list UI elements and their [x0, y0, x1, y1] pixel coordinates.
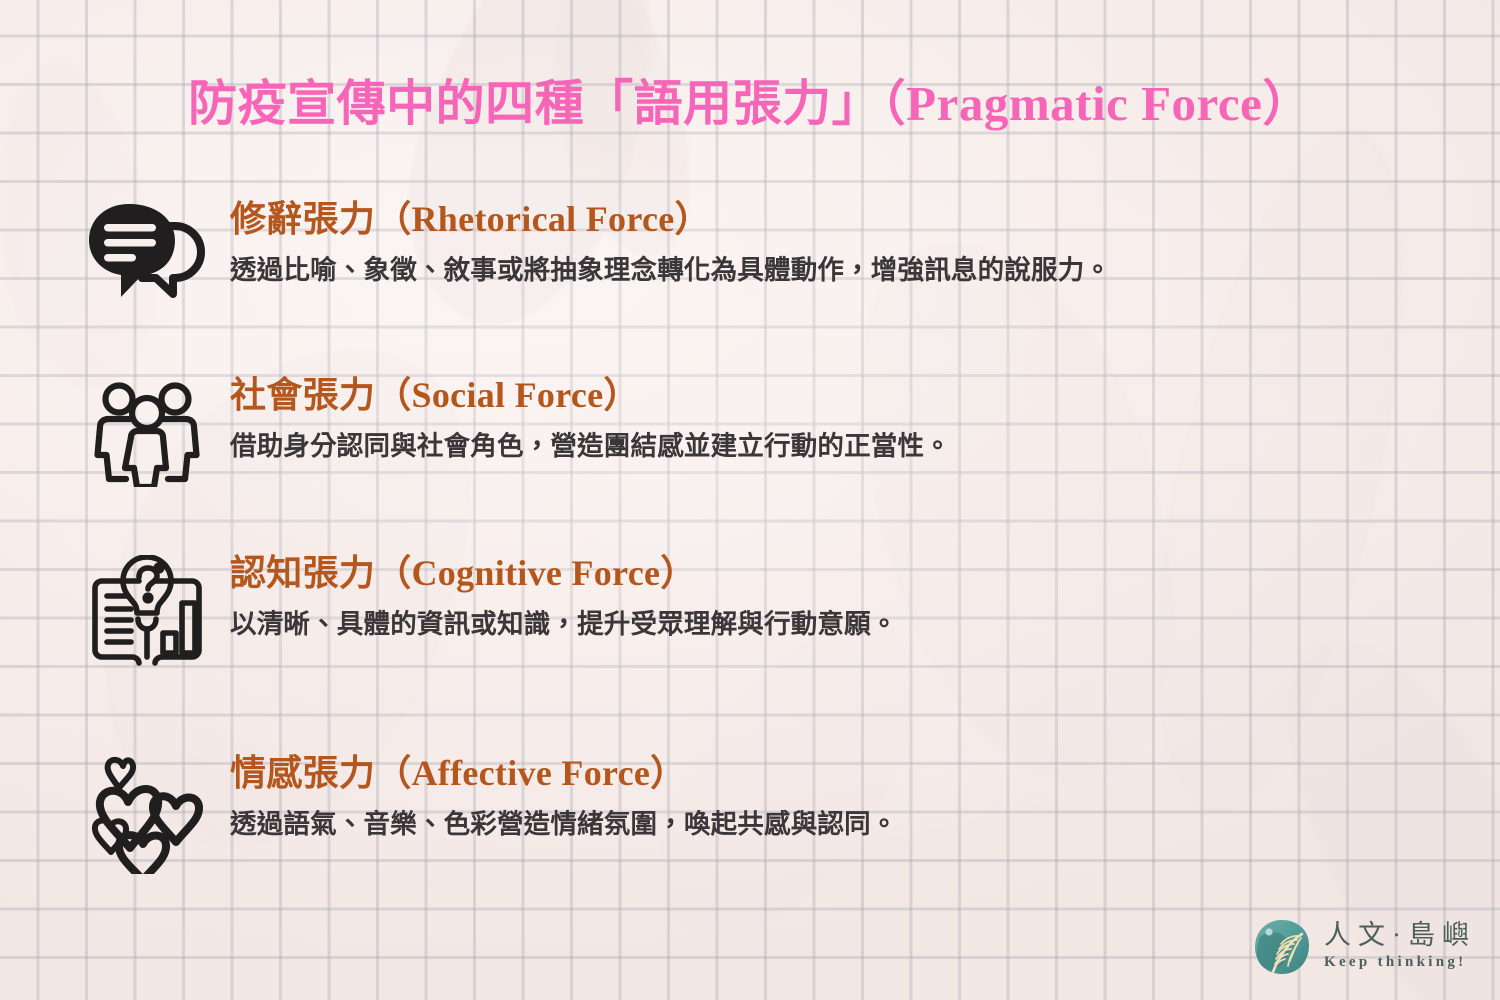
three-people-icon [72, 368, 222, 493]
infographic-slide: 防疫宣傳中的四種「語用張力」（Pragmatic Force） [0, 0, 1500, 1000]
list-item-body: 借助身分認同與社會角色，營造團結感並建立行動的正當性。 [230, 429, 1500, 465]
list-item-body: 透過語氣、音樂、色彩營造情緒氛圍，喚起共感與認同。 [230, 807, 1500, 843]
brand-tagline: Keep thinking! [1324, 954, 1476, 971]
brand-logo-text: 人文·島嶼 Keep thinking! [1324, 921, 1476, 972]
page-title: 防疫宣傳中的四種「語用張力」（Pragmatic Force） [0, 76, 1500, 132]
list-item-heading: 修辭張力（Rhetorical Force） [230, 198, 1500, 241]
list-item-text: 社會張力（Social Force） 借助身分認同與社會角色，營造團結感並建立行… [230, 362, 1500, 465]
list-item-heading: 社會張力（Social Force） [230, 374, 1500, 417]
list-item-heading: 認知張力（Cognitive Force） [230, 552, 1500, 595]
palm-leaf-circle-logo-icon [1253, 918, 1311, 976]
list-item-text: 認知張力（Cognitive Force） 以清晰、具體的資訊或知識，提升受眾理… [230, 540, 1500, 643]
list-item-text: 情感張力（Affective Force） 透過語氣、音樂、色彩營造情緒氛圍，喚… [230, 740, 1500, 843]
book-lightbulb-chart-icon [72, 548, 222, 673]
list-item-body: 透過比喻、象徵、敘事或將抽象理念轉化為具體動作，增強訊息的說服力。 [230, 253, 1500, 289]
speech-bubbles-icon [72, 188, 222, 313]
brand-logo: 人文·島嶼 Keep thinking! [1253, 918, 1476, 976]
list-item: 社會張力（Social Force） 借助身分認同與社會角色，營造團結感並建立行… [0, 362, 1500, 540]
list-item: 認知張力（Cognitive Force） 以清晰、具體的資訊或知識，提升受眾理… [0, 540, 1500, 740]
force-list: 修辭張力（Rhetorical Force） 透過比喻、象徵、敘事或將抽象理念轉… [0, 186, 1500, 920]
hearts-icon [72, 750, 222, 875]
list-item-heading: 情感張力（Affective Force） [230, 752, 1500, 795]
list-item: 修辭張力（Rhetorical Force） 透過比喻、象徵、敘事或將抽象理念轉… [0, 186, 1500, 362]
list-item-text: 修辭張力（Rhetorical Force） 透過比喻、象徵、敘事或將抽象理念轉… [230, 186, 1500, 289]
brand-name: 人文·島嶼 [1324, 921, 1476, 949]
slide-content: 防疫宣傳中的四種「語用張力」（Pragmatic Force） [0, 0, 1500, 1000]
list-item: 情感張力（Affective Force） 透過語氣、音樂、色彩營造情緒氛圍，喚… [0, 740, 1500, 920]
list-item-body: 以清晰、具體的資訊或知識，提升受眾理解與行動意願。 [230, 607, 1500, 643]
